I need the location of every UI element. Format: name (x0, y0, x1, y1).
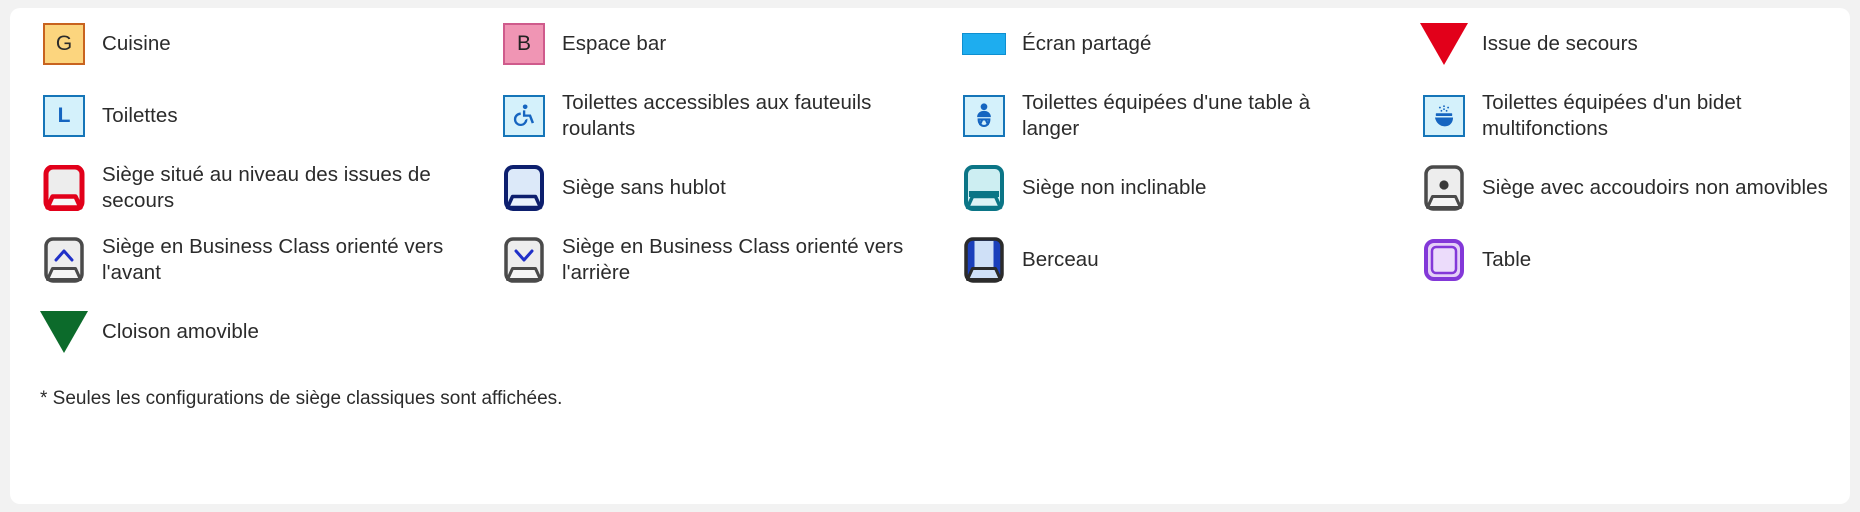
legend-item-label: Toilettes (102, 103, 178, 129)
legend-item-espace-bar: B Espace bar (470, 8, 930, 80)
legend-row: Siège situé au niveau des issues de seco… (10, 152, 1850, 224)
footnote-text: * Seules les configurations de siège cla… (40, 386, 1040, 412)
footnote-wrap: * Seules les configurations de siège cla… (40, 386, 1040, 412)
shared-screen-shape (962, 33, 1006, 55)
legend-item-toilettes: L Toilettes (10, 80, 470, 152)
legend-item-label: Toilettes équipées d'un bidet multifonct… (1482, 90, 1832, 142)
legend-item-label: Berceau (1022, 247, 1099, 273)
legend-item-siege-accoudoirs-non-amovibles: Siège avec accoudoirs non amovibles (1390, 152, 1850, 224)
legend-row: Siège en Business Class orienté vers l'a… (10, 224, 1850, 296)
exit-row-seat-icon (40, 162, 88, 214)
legend-item-label: Siège sans hublot (562, 175, 726, 201)
legend-item-cloison-amovible: Cloison amovible (10, 296, 470, 368)
legend-item-bidet-multifonctions: Toilettes équipées d'un bidet multifonct… (1390, 80, 1850, 152)
legend-item-label: Issue de secours (1482, 31, 1638, 57)
kitchen-square-icon: G (40, 18, 88, 70)
legend-item-label: Toilettes équipées d'une table à langer (1022, 90, 1372, 142)
kitchen-square-letter: G (43, 23, 85, 65)
legend-item-label: Siège en Business Class orienté vers l'a… (562, 234, 912, 286)
legend-item-toilettes-accessibles: Toilettes accessibles aux fauteuils roul… (470, 80, 930, 152)
wheelchair-square (503, 95, 545, 137)
baby-changing-square (963, 95, 1005, 137)
legend-item-table: Table (1390, 224, 1850, 296)
lavatory-square-icon: L (40, 90, 88, 142)
legend-item-siege-issues-secours: Siège situé au niveau des issues de seco… (10, 152, 470, 224)
legend-grid: G Cuisine B Espace bar Écran partagé (10, 8, 1850, 368)
legend-item-label: Table (1482, 247, 1531, 273)
legend-item-business-avant: Siège en Business Class orienté vers l'a… (10, 224, 470, 296)
legend-item-label: Cloison amovible (102, 319, 259, 345)
bar-square-icon: B (500, 18, 548, 70)
legend-item-table-a-langer: Toilettes équipées d'une table à langer (930, 80, 1390, 152)
legend-item-label: Écran partagé (1022, 31, 1151, 57)
legend-item-business-arriere: Siège en Business Class orienté vers l'a… (470, 224, 930, 296)
legend-item-label: Espace bar (562, 31, 666, 57)
emergency-exit-triangle (1420, 23, 1468, 65)
legend-item-label: Siège en Business Class orienté vers l'a… (102, 234, 452, 286)
legend-card: G Cuisine B Espace bar Écran partagé (10, 8, 1850, 504)
legend-cell-empty (1390, 296, 1850, 368)
legend-cell-empty (930, 296, 1390, 368)
legend-row: G Cuisine B Espace bar Écran partagé (10, 8, 1850, 80)
wheelchair-accessible-lavatory-icon (500, 90, 548, 142)
removable-partition-triangle (40, 311, 88, 353)
bidet-square (1423, 95, 1465, 137)
non-reclining-seat-icon (960, 162, 1008, 214)
legend-item-label: Siège avec accoudoirs non amovibles (1482, 175, 1828, 201)
bassinet-seat-icon (960, 234, 1008, 286)
business-seat-forward-icon (40, 234, 88, 286)
lavatory-square-letter: L (43, 95, 85, 137)
legend-item-label: Siège situé au niveau des issues de seco… (102, 162, 452, 214)
fixed-armrest-seat-icon (1420, 162, 1468, 214)
bar-square-letter: B (503, 23, 545, 65)
legend-item-label: Cuisine (102, 31, 171, 57)
legend-item-ecran-partage: Écran partagé (930, 8, 1390, 80)
baby-changing-table-icon (960, 90, 1008, 142)
legend-row: L Toilettes Toilettes accessibles aux fa… (10, 80, 1850, 152)
business-seat-backward-icon (500, 234, 548, 286)
legend-cell-empty (470, 296, 930, 368)
legend-row: Cloison amovible (10, 296, 1850, 368)
legend-item-label: Toilettes accessibles aux fauteuils roul… (562, 90, 912, 142)
legend-item-issue-de-secours: Issue de secours (1390, 8, 1850, 80)
legend-item-berceau: Berceau (930, 224, 1390, 296)
table-icon (1420, 234, 1468, 286)
legend-item-siege-non-inclinable: Siège non inclinable (930, 152, 1390, 224)
multifunction-bidet-icon (1420, 90, 1468, 142)
shared-screen-icon (960, 18, 1008, 70)
removable-partition-icon (40, 306, 88, 358)
no-window-seat-icon (500, 162, 548, 214)
emergency-exit-icon (1420, 18, 1468, 70)
legend-item-siege-sans-hublot: Siège sans hublot (470, 152, 930, 224)
legend-item-label: Siège non inclinable (1022, 175, 1207, 201)
legend-item-cuisine: G Cuisine (10, 8, 470, 80)
